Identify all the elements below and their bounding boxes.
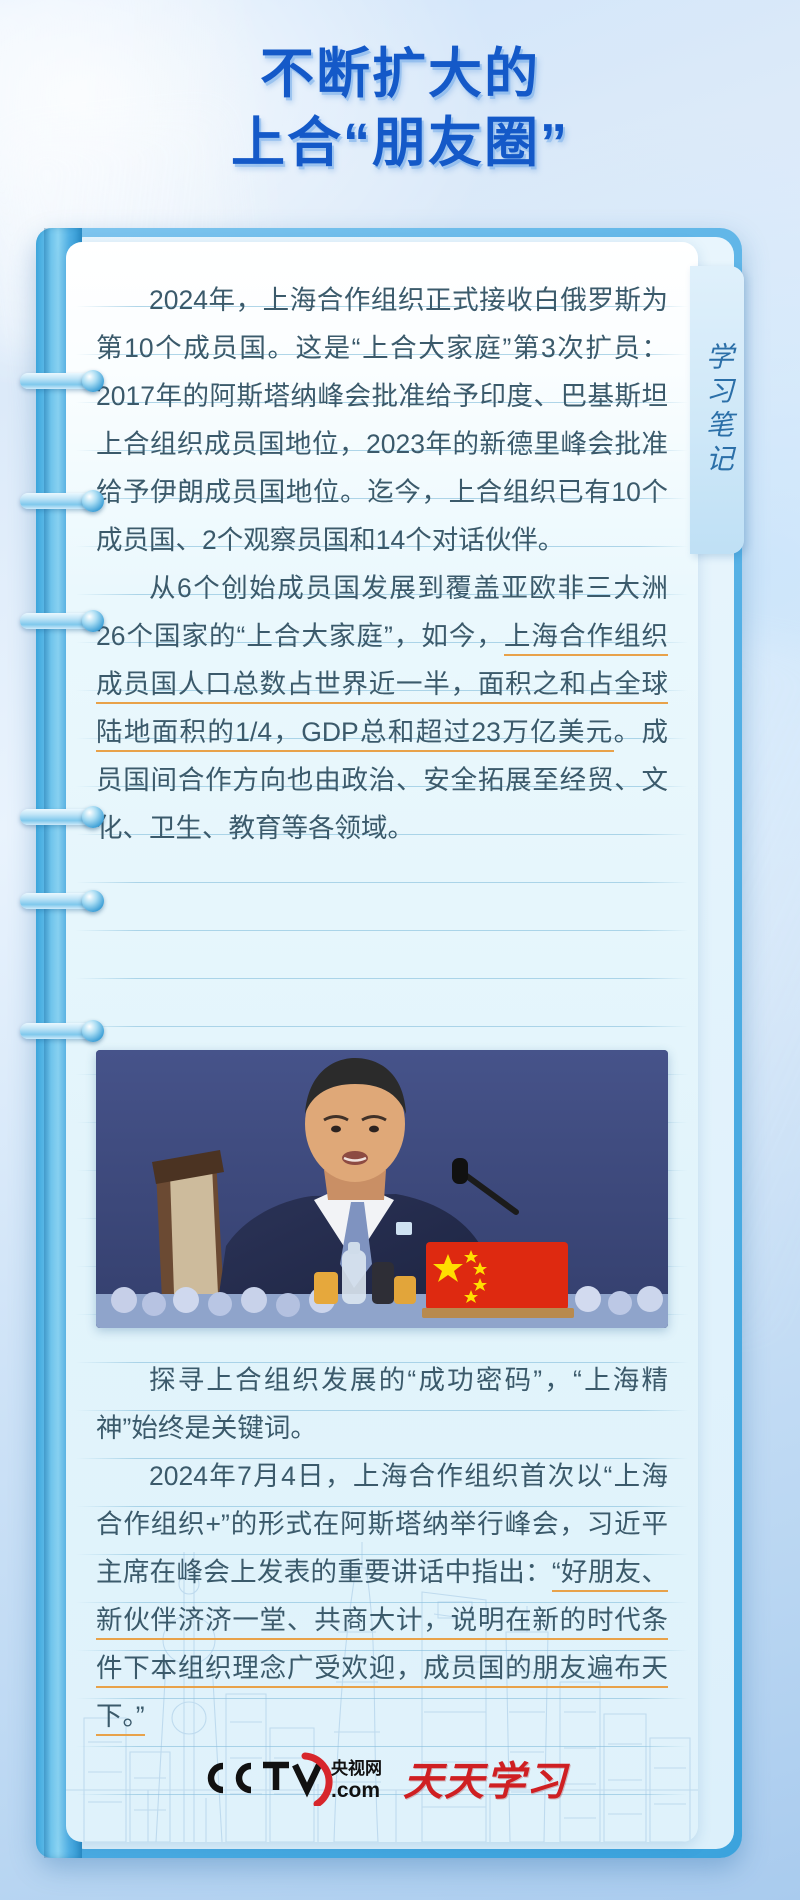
binder-ring-knob: [82, 1020, 104, 1042]
notebook-binder: 学习笔记: [14, 228, 786, 1858]
binder-ring-knob: [82, 610, 104, 632]
ruled-line: [76, 1026, 688, 1027]
ruled-line: [76, 930, 688, 931]
paragraph-1: 2024年，上海合作组织正式接收白俄罗斯为第10个成员国。这是“上合大家庭”第3…: [96, 276, 668, 564]
summit-photo: [96, 1050, 668, 1328]
binder-ring: [20, 1020, 104, 1042]
title-line-2: 上合“朋友圈”: [0, 109, 800, 178]
svg-text:央视网: 央视网: [331, 1758, 382, 1778]
paragraph-4: 2024年7月4日，上海合作组织首次以“上海合作组织+”的形式在阿斯塔纳举行峰会…: [96, 1452, 668, 1740]
poster-title: 不断扩大的 上合“朋友圈”: [0, 40, 800, 178]
binder-ring: [20, 806, 104, 828]
summit-photo-illustration: [96, 1050, 668, 1328]
binder-ring: [20, 370, 104, 392]
tiantian-xuexi-brand: 天天学习: [403, 1749, 567, 1807]
cctv-logo-mark: 央视网 .com: [197, 1750, 387, 1806]
article-body: 2024年，上海合作组织正式接收白俄罗斯为第10个成员国。这是“上合大家庭”第3…: [96, 276, 668, 852]
poster-page: 不断扩大的 上合“朋友圈” 学习笔记: [0, 0, 800, 1900]
binder-ring: [20, 490, 104, 512]
binder-ring-knob: [82, 370, 104, 392]
notebook-paper: 2024年，上海合作组织正式接收白俄罗斯为第10个成员国。这是“上合大家庭”第3…: [66, 242, 698, 1842]
paragraph-3: 探寻上合组织发展的“成功密码”，“上海精神”始终是关键词。: [96, 1356, 668, 1452]
footer-logos: 央视网 .com 天天学习: [66, 1740, 698, 1816]
paragraph-2: 从6个创始成员国发展到覆盖亚欧非三大洲26个国家的“上合大家庭”，如今，上海合作…: [96, 564, 668, 852]
article-body-lower: 探寻上合组织发展的“成功密码”，“上海精神”始终是关键词。 2024年7月4日，…: [96, 1356, 668, 1740]
spine-shadow: [44, 228, 51, 1858]
study-notes-tab[interactable]: 学习笔记: [690, 266, 744, 554]
binder-ring: [20, 610, 104, 632]
ruled-line: [76, 882, 688, 883]
binder-ring-knob: [82, 806, 104, 828]
cctv-logo: 央视网 .com: [197, 1750, 387, 1806]
binder-ring-knob: [82, 490, 104, 512]
ruled-line: [76, 978, 688, 979]
title-line-1: 不断扩大的: [0, 40, 800, 109]
study-notes-tab-label: 学习笔记: [698, 342, 736, 478]
binder-ring: [20, 890, 104, 912]
binder-ring-knob: [82, 890, 104, 912]
svg-text:.com: .com: [331, 1779, 380, 1802]
